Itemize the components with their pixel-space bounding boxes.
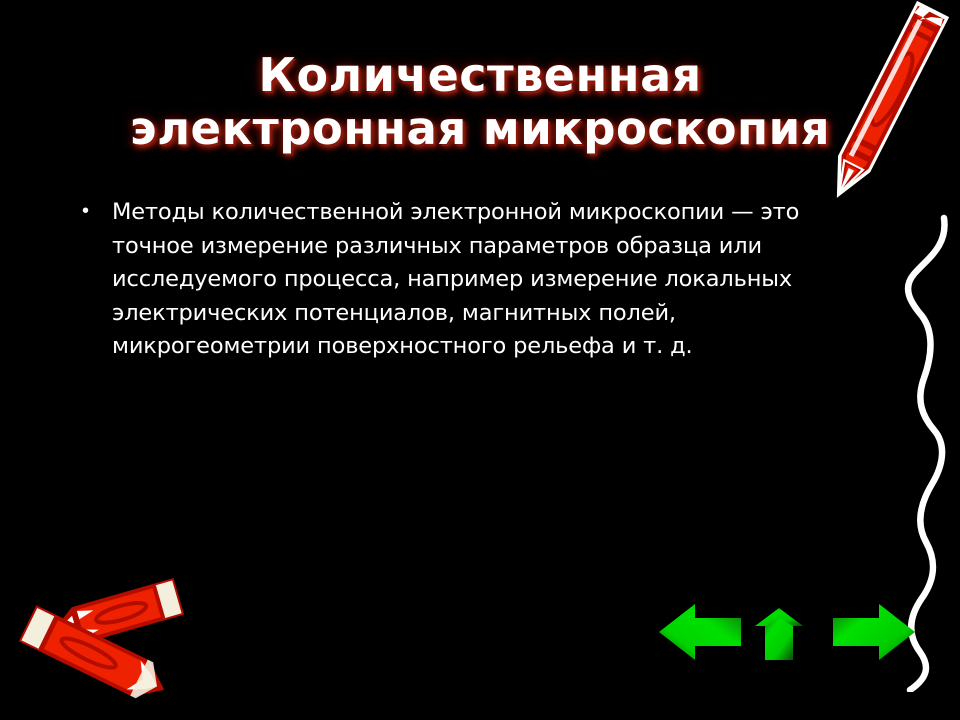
green-arrows-group xyxy=(655,590,920,670)
slide-body: • Методы количественной электронной микр… xyxy=(78,196,878,364)
list-item: • Методы количественной электронной микр… xyxy=(78,196,878,364)
white-wavy-line-icon xyxy=(888,212,960,692)
bullet-marker-icon: • xyxy=(78,196,112,226)
presentation-slide: Количественная электронная микроскопия •… xyxy=(0,0,960,720)
arrow-up-icon xyxy=(755,608,803,660)
arrow-left-icon xyxy=(659,604,741,660)
title-line-2: электронная микроскопия xyxy=(40,102,920,155)
crossed-red-crayons-icon xyxy=(4,572,204,704)
title-line-1: Количественная xyxy=(40,48,920,102)
red-crayon-icon xyxy=(795,0,960,229)
page-title: Количественная электронная микроскопия xyxy=(40,48,920,155)
bullet-text: Методы количественной электронной микрос… xyxy=(112,196,878,364)
arrow-right-icon xyxy=(833,604,915,660)
